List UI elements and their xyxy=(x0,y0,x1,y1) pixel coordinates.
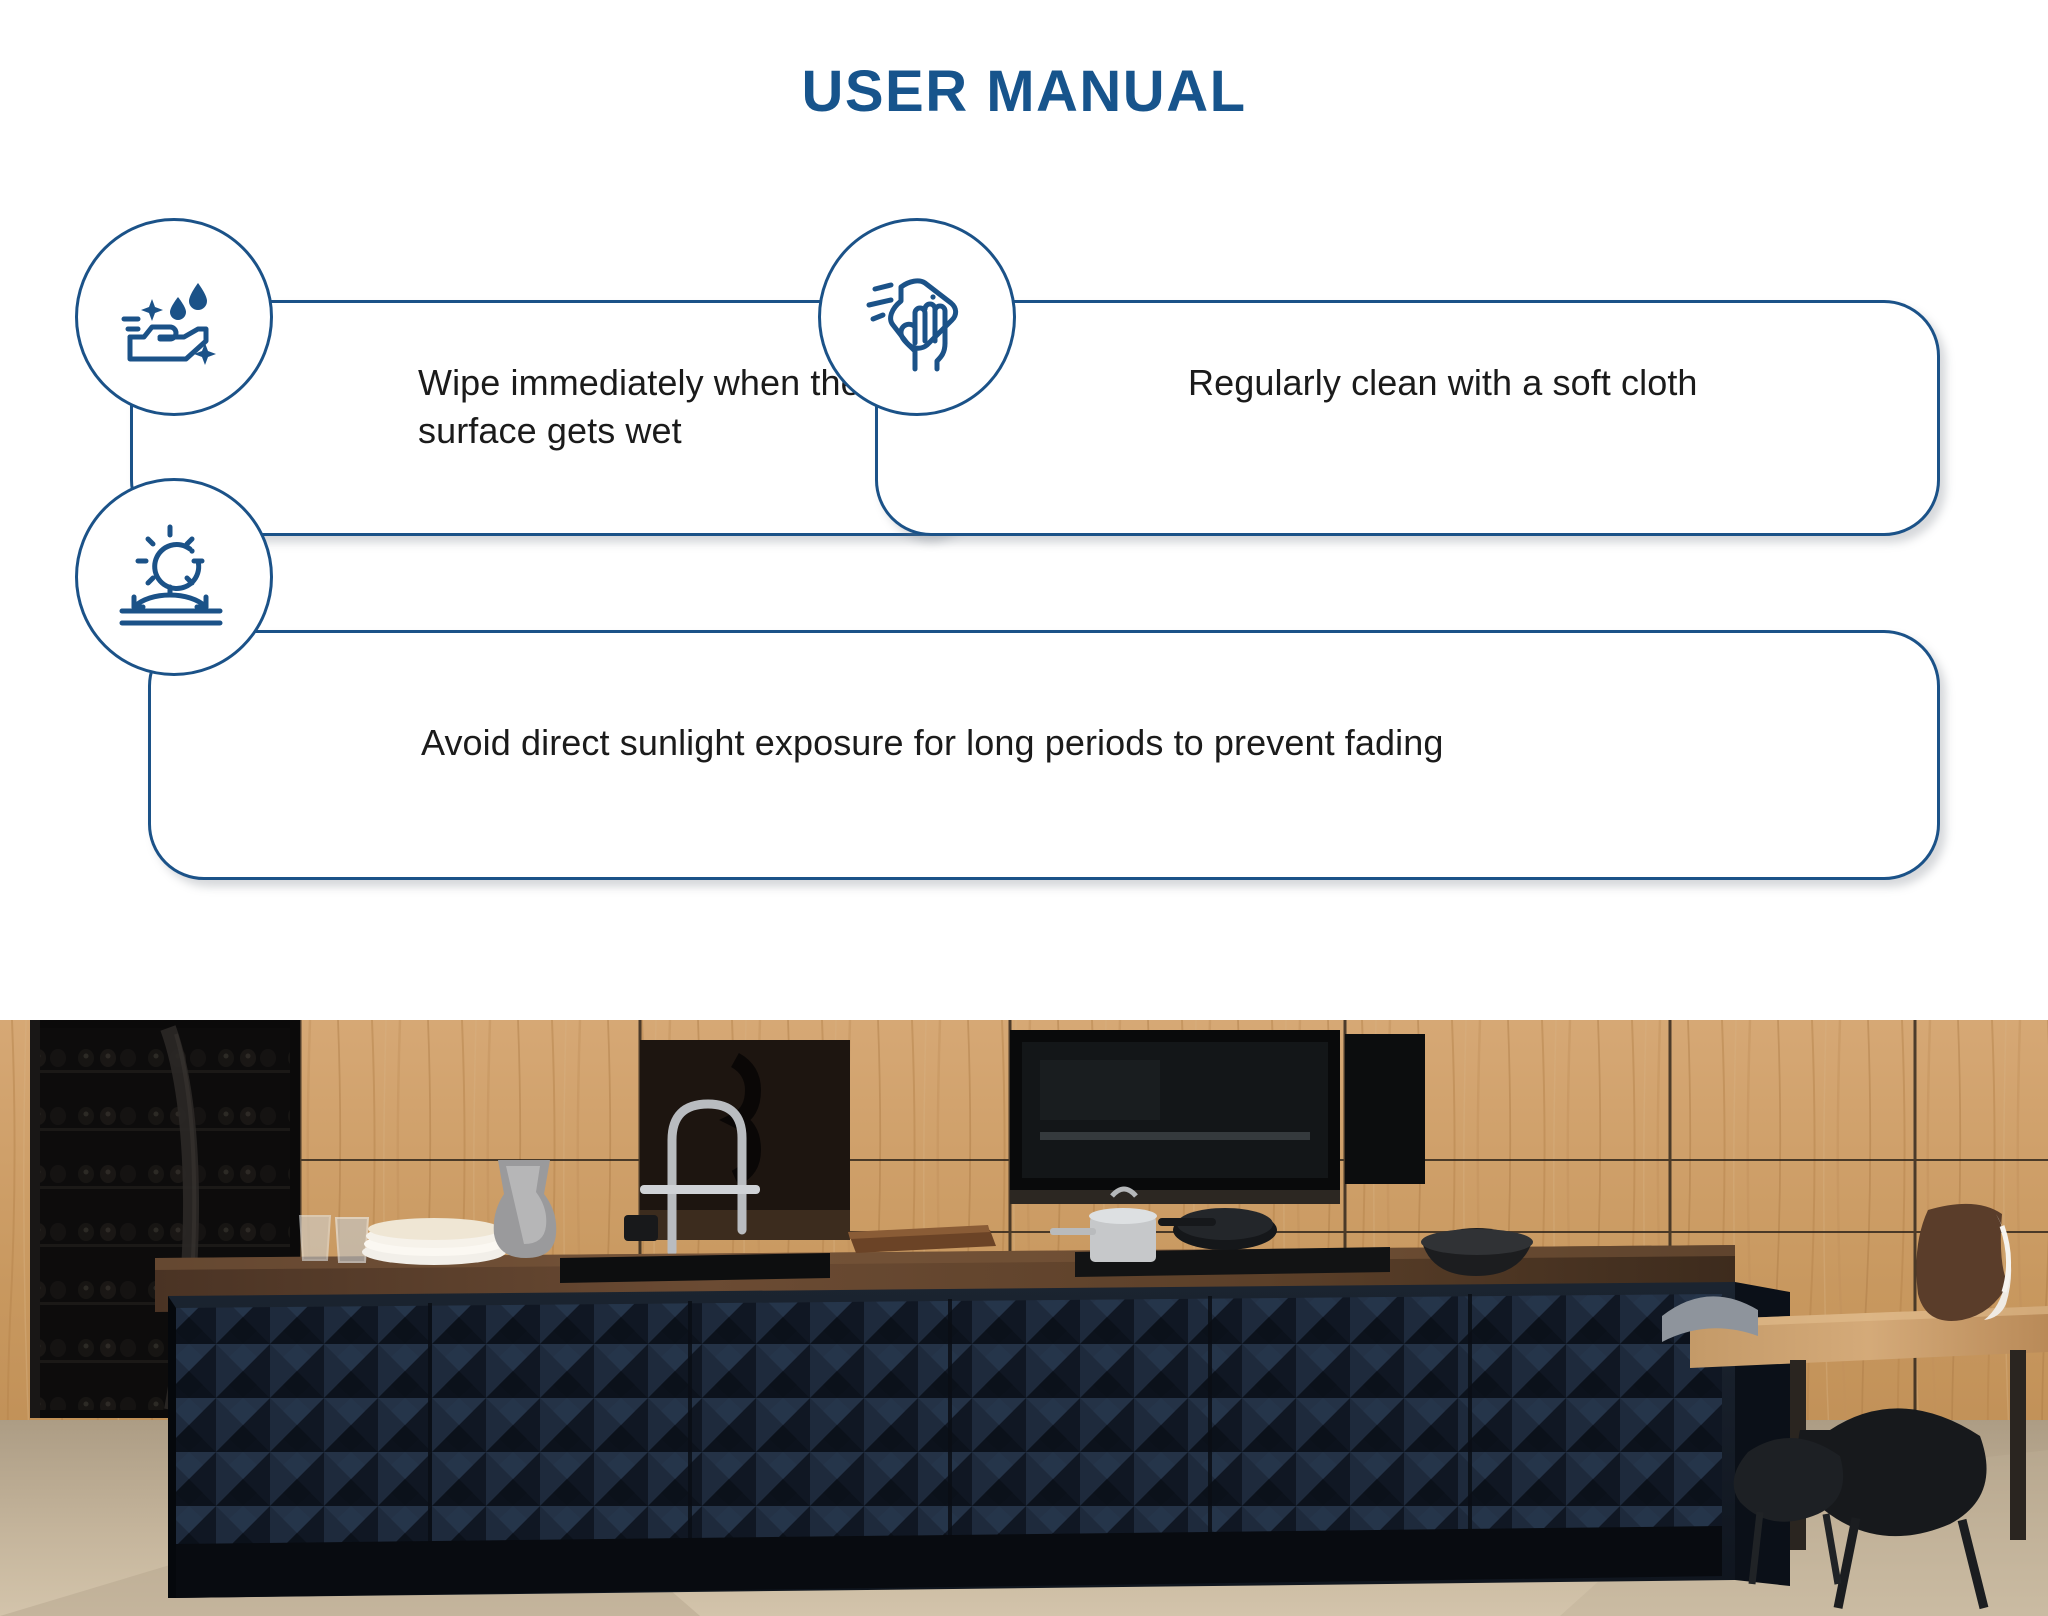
kitchen-island-photo xyxy=(0,1020,2048,1616)
manual-card-clean-soft-cloth: Regularly clean with a soft cloth xyxy=(875,300,1940,536)
manual-card-text: Regularly clean with a soft cloth xyxy=(1188,359,1828,407)
icon-badge-avoid-sunlight xyxy=(75,478,273,676)
manual-card-text: Avoid direct sunlight exposure for long … xyxy=(421,719,1871,767)
icon-badge-wipe-when-wet xyxy=(75,218,273,416)
hand-water-drop-icon xyxy=(114,257,234,377)
sun-over-surface-icon xyxy=(112,515,236,639)
manual-card-avoid-sunlight: Avoid direct sunlight exposure for long … xyxy=(148,630,1940,880)
hand-wiping-cloth-icon xyxy=(857,257,977,377)
icon-badge-clean-soft-cloth xyxy=(818,218,1016,416)
manual-cards-area: Wipe immediately when the surface gets w… xyxy=(0,0,2048,1020)
